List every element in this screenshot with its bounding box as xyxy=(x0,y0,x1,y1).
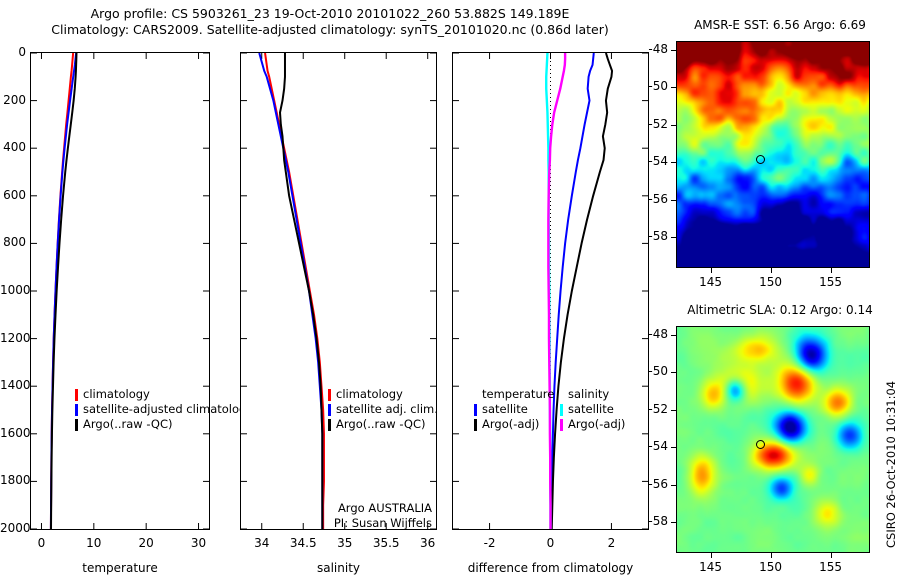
map-lon-tick xyxy=(831,553,832,558)
map-lat-tick xyxy=(671,335,676,336)
page-title: Argo profile: CS 5903261_23 19-Oct-2010 … xyxy=(0,6,660,38)
legend-header: salinity xyxy=(560,387,625,402)
legend-label: satellite adj. clim. xyxy=(336,402,438,417)
map-lat-tick-label: -54 xyxy=(634,439,668,453)
map-lat-tick-label: -52 xyxy=(634,402,668,416)
map-lat-tick xyxy=(671,87,676,88)
axis-tick-label: 30 xyxy=(169,536,229,550)
map-lon-tick xyxy=(831,268,832,273)
legend-label: climatology xyxy=(83,387,150,402)
depth-tick-label: 800 xyxy=(0,235,26,249)
depth-tick-label: 1600 xyxy=(0,426,26,440)
map-lat-tick-label: -54 xyxy=(634,154,668,168)
map-lat-tick xyxy=(671,200,676,201)
legend-item: Argo(-adj) xyxy=(560,417,625,432)
attribution-line-2: PI: Susan Wijffels xyxy=(297,516,432,531)
legend-color-swatch xyxy=(328,404,331,416)
difference-legend-salinity: salinitysatelliteArgo(-adj) xyxy=(560,387,625,432)
map-lat-tick-label: -56 xyxy=(634,477,668,491)
legend-item: satellite xyxy=(560,402,625,417)
legend-item: Argo(..raw -QC) xyxy=(75,417,253,432)
map-lat-tick xyxy=(671,372,676,373)
depth-tick-label: 1800 xyxy=(0,473,26,487)
depth-tick-label: 400 xyxy=(0,140,26,154)
temperature-profile-panel[interactable] xyxy=(30,52,210,530)
depth-tick-label: 2000 xyxy=(0,521,26,535)
legend-label: Argo(-adj) xyxy=(482,417,539,432)
sla-map[interactable] xyxy=(676,326,870,553)
sst-map-image xyxy=(677,42,869,267)
map-lat-tick-label: -52 xyxy=(634,117,668,131)
legend-item: satellite xyxy=(474,402,554,417)
map-lon-tick xyxy=(711,268,712,273)
axis-tick-label: 36 xyxy=(398,536,458,550)
salinity-profile-panel[interactable] xyxy=(240,52,437,530)
depth-tick-label: 1400 xyxy=(0,378,26,392)
depth-tick-label: 1000 xyxy=(0,283,26,297)
salinity-legend: climatologysatellite adj. clim.Argo(..ra… xyxy=(328,387,438,432)
salinity-axis-label: salinity xyxy=(240,561,437,575)
temperature-profile-plot xyxy=(31,53,209,529)
legend-color-swatch xyxy=(75,404,78,416)
map-lon-tick xyxy=(771,268,772,273)
depth-tick-label: 1200 xyxy=(0,331,26,345)
legend-item: satellite-adjusted climatology xyxy=(75,402,253,417)
sla-map-title: Altimetric SLA: 0.12 Argo: 0.14 xyxy=(660,303,900,317)
attribution-line-1: Argo AUSTRALIA xyxy=(297,501,432,516)
map-lon-tick-label: 150 xyxy=(746,275,796,289)
csiro-timestamp: CSIRO 26-Oct-2010 10:31:04 xyxy=(884,381,898,548)
legend-label: Argo(-adj) xyxy=(568,417,625,432)
axis-tick-label: 10 xyxy=(64,536,124,550)
map-lat-tick-label: -58 xyxy=(634,229,668,243)
difference-axis-label: difference from climatology xyxy=(452,561,649,575)
legend-item: satellite adj. clim. xyxy=(328,402,438,417)
legend-label: Argo(..raw -QC) xyxy=(83,417,173,432)
map-lon-tick-label: 145 xyxy=(686,275,736,289)
map-lat-tick-label: -58 xyxy=(634,514,668,528)
map-lat-tick xyxy=(671,162,676,163)
map-lon-tick-label: 145 xyxy=(686,560,736,574)
sst-map[interactable] xyxy=(676,41,870,268)
sst-map-title: AMSR-E SST: 6.56 Argo: 6.69 xyxy=(660,18,900,32)
legend-label: satellite xyxy=(568,402,614,417)
map-lat-tick-label: -50 xyxy=(634,364,668,378)
legend-color-swatch xyxy=(328,389,331,401)
map-lat-tick xyxy=(671,522,676,523)
legend-label: satellite-adjusted climatology xyxy=(83,402,253,417)
difference-legend-temperature: temperaturesatelliteArgo(-adj) xyxy=(474,387,554,432)
depth-tick-label: 0 xyxy=(0,45,26,59)
map-lon-tick-label: 155 xyxy=(806,275,856,289)
map-lon-tick-label: 155 xyxy=(806,560,856,574)
map-lat-tick-label: -48 xyxy=(634,42,668,56)
axis-tick-label: 0 xyxy=(521,536,581,550)
title-line-2: Climatology: CARS2009. Satellite-adjuste… xyxy=(0,22,660,38)
map-lat-tick xyxy=(671,485,676,486)
map-lon-tick xyxy=(771,553,772,558)
difference-profile-plot xyxy=(453,53,648,529)
legend-item: climatology xyxy=(75,387,253,402)
legend-label: satellite xyxy=(482,402,528,417)
depth-tick-label: 200 xyxy=(0,93,26,107)
map-lon-tick xyxy=(711,553,712,558)
legend-color-swatch xyxy=(560,404,563,416)
legend-item: Argo(..raw -QC) xyxy=(328,417,438,432)
temperature-legend: climatologysatellite-adjusted climatolog… xyxy=(75,387,253,432)
legend-color-swatch xyxy=(474,404,477,416)
depth-tick-label: 600 xyxy=(0,188,26,202)
legend-label: Argo(..raw -QC) xyxy=(336,417,426,432)
axis-tick-label: 2 xyxy=(581,536,641,550)
temperature-axis-label: temperature xyxy=(30,561,210,575)
title-line-1: Argo profile: CS 5903261_23 19-Oct-2010 … xyxy=(0,6,660,22)
legend-label: climatology xyxy=(336,387,403,402)
legend-color-swatch xyxy=(560,419,563,431)
map-lat-tick-label: -50 xyxy=(634,79,668,93)
legend-color-swatch xyxy=(75,419,78,431)
map-lat-tick-label: -56 xyxy=(634,192,668,206)
map-lat-tick xyxy=(671,125,676,126)
legend-color-swatch xyxy=(474,419,477,431)
sla-map-image xyxy=(677,327,869,552)
legend-header: temperature xyxy=(474,387,554,402)
map-lat-tick-label: -48 xyxy=(634,327,668,341)
map-lat-tick xyxy=(671,447,676,448)
legend-color-swatch xyxy=(328,419,331,431)
axis-tick-label: 0 xyxy=(11,536,71,550)
axis-tick-label: -2 xyxy=(460,536,520,550)
map-lat-tick xyxy=(671,237,676,238)
difference-profile-panel[interactable] xyxy=(452,52,649,530)
attribution: Argo AUSTRALIA PI: Susan Wijffels xyxy=(297,501,432,531)
legend-item: Argo(-adj) xyxy=(474,417,554,432)
map-lon-tick-label: 150 xyxy=(746,560,796,574)
legend-color-swatch xyxy=(75,389,78,401)
legend-item: climatology xyxy=(328,387,438,402)
map-lat-tick xyxy=(671,410,676,411)
salinity-profile-plot xyxy=(241,53,436,529)
axis-tick-label: 20 xyxy=(116,536,176,550)
map-lat-tick xyxy=(671,50,676,51)
